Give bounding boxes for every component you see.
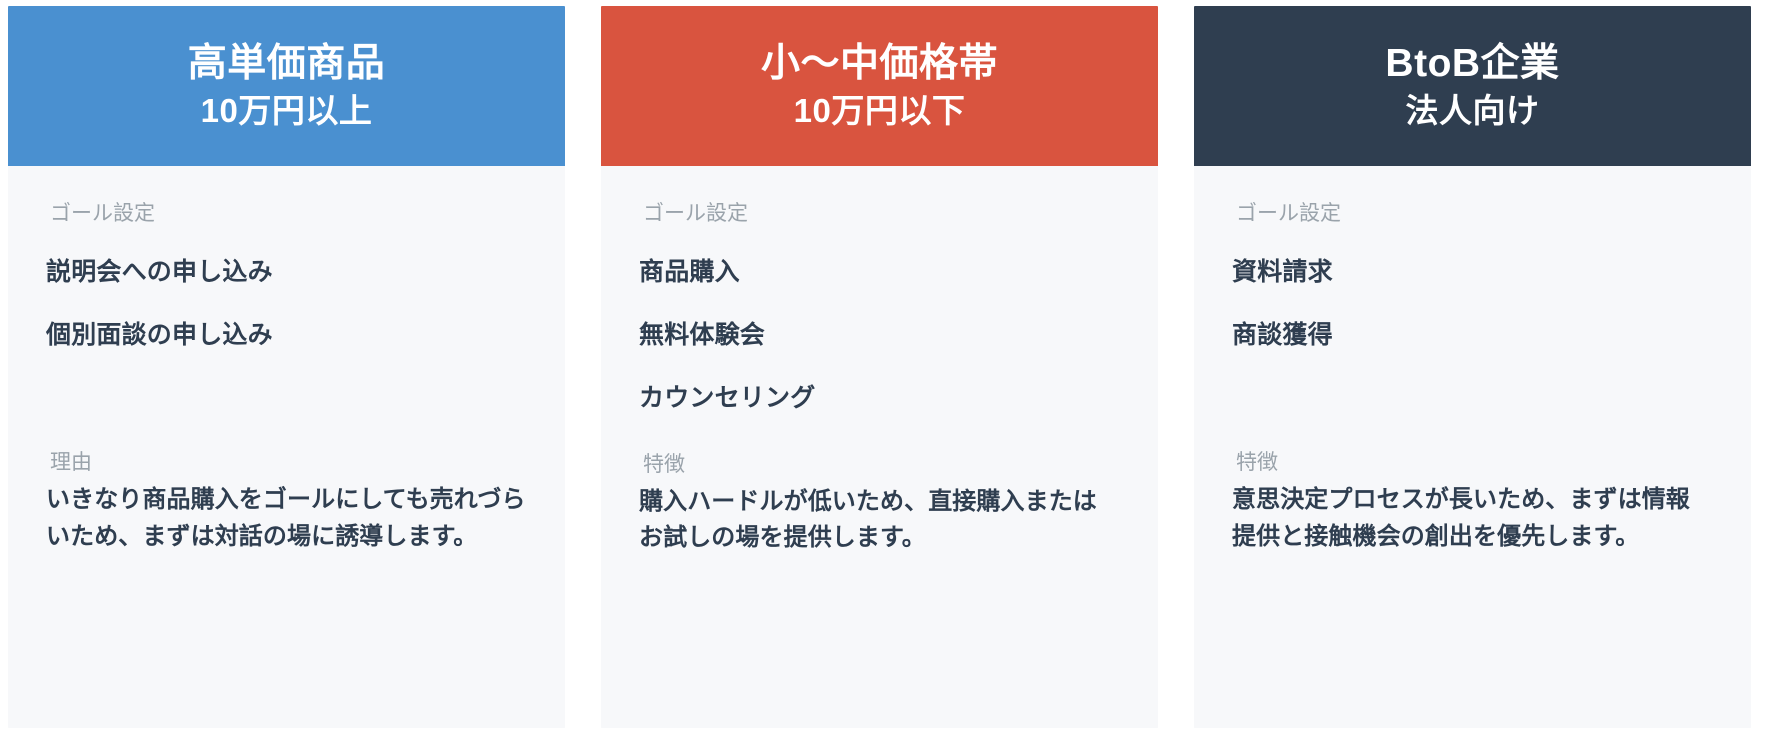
feature-description: 意思決定プロセスが長いため、まずは情報提供と接触機会の創出を優先します。 xyxy=(1232,482,1713,555)
goal-item: 商品購入 xyxy=(639,256,1120,290)
goal-list: 説明会への申し込み 個別面談の申し込み xyxy=(46,256,527,353)
goal-section-label: ゴール設定 xyxy=(50,200,527,227)
card-title-secondary: 10万円以下 xyxy=(794,90,966,132)
goal-item: 説明会への申し込み xyxy=(46,256,527,290)
card-title-primary: 小〜中価格帯 xyxy=(761,40,998,88)
card-btob-company: BtoB企業 法人向け ゴール設定 資料請求 商談獲得 特徴 意思決定プロセスが… xyxy=(1194,6,1751,728)
feature-section-label: 特徴 xyxy=(643,451,1120,478)
feature-section-label: 特徴 xyxy=(1236,449,1713,476)
card-body: ゴール設定 商品購入 無料体験会 カウンセリング 特徴 購入ハードルが低いため、… xyxy=(601,166,1158,728)
feature-description: 購入ハードルが低いため、直接購入またはお試しの場を提供します。 xyxy=(639,484,1120,557)
goal-item: 資料請求 xyxy=(1232,256,1713,290)
goal-item: 商談獲得 xyxy=(1232,319,1713,353)
comparison-card-board: 高単価商品 10万円以上 ゴール設定 説明会への申し込み 個別面談の申し込み 理… xyxy=(0,0,1768,746)
card-header: BtoB企業 法人向け xyxy=(1194,6,1751,166)
card-title-secondary: 10万円以上 xyxy=(201,90,373,132)
card-body: ゴール設定 説明会への申し込み 個別面談の申し込み 理由 いきなり商品購入をゴー… xyxy=(8,166,565,728)
card-header: 小〜中価格帯 10万円以下 xyxy=(601,6,1158,166)
card-title-secondary: 法人向け xyxy=(1406,90,1540,132)
feature-section: 特徴 意思決定プロセスが長いため、まずは情報提供と接触機会の創出を優先します。 xyxy=(1232,449,1713,555)
goal-section: ゴール設定 説明会への申し込み 個別面談の申し込み xyxy=(46,200,527,449)
goal-section: ゴール設定 資料請求 商談獲得 xyxy=(1232,200,1713,449)
card-small-mid-price: 小〜中価格帯 10万円以下 ゴール設定 商品購入 無料体験会 カウンセリング 特… xyxy=(601,6,1158,728)
goal-list: 商品購入 無料体験会 カウンセリング xyxy=(639,256,1120,415)
feature-section-label: 理由 xyxy=(50,449,527,476)
feature-section: 特徴 購入ハードルが低いため、直接購入またはお試しの場を提供します。 xyxy=(639,451,1120,557)
goal-list: 資料請求 商談獲得 xyxy=(1232,256,1713,353)
feature-section: 理由 いきなり商品購入をゴールにしても売れづらいため、まずは対話の場に誘導します… xyxy=(46,449,527,555)
card-body: ゴール設定 資料請求 商談獲得 特徴 意思決定プロセスが長いため、まずは情報提供… xyxy=(1194,166,1751,728)
goal-item: 無料体験会 xyxy=(639,319,1120,353)
goal-item: 個別面談の申し込み xyxy=(46,319,527,353)
card-title-primary: 高単価商品 xyxy=(188,40,386,88)
goal-section-label: ゴール設定 xyxy=(643,200,1120,227)
card-header: 高単価商品 10万円以上 xyxy=(8,6,565,166)
card-title-primary: BtoB企業 xyxy=(1385,40,1559,88)
card-high-price-product: 高単価商品 10万円以上 ゴール設定 説明会への申し込み 個別面談の申し込み 理… xyxy=(8,6,565,728)
goal-section-label: ゴール設定 xyxy=(1236,200,1713,227)
goal-item: カウンセリング xyxy=(639,382,1120,416)
goal-section: ゴール設定 商品購入 無料体験会 カウンセリング xyxy=(639,200,1120,451)
feature-description: いきなり商品購入をゴールにしても売れづらいため、まずは対話の場に誘導します。 xyxy=(46,482,527,555)
